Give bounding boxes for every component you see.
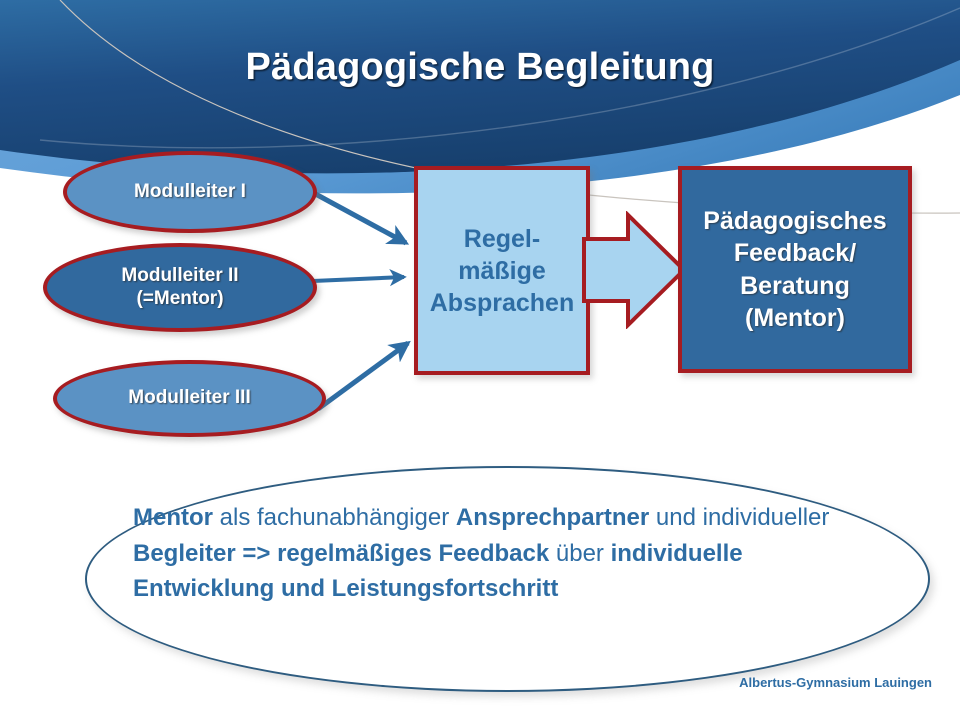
summary-seg-2: als fachunabhängiger — [213, 504, 456, 531]
box-middle-line-2: mäßige — [458, 257, 546, 285]
ellipse-modulleiter-1[interactable]: Modulleiter I — [63, 151, 317, 233]
summary-seg-5: Begleiter => regelmäßiges Feedback — [133, 540, 549, 567]
ellipse-modulleiter-2-line-1: Modulleiter II — [121, 265, 238, 286]
ellipse-modulleiter-3[interactable]: Modulleiter III — [53, 360, 326, 437]
slide-canvas: Pädagogische Begleitung Modulleiter I Mo… — [0, 0, 960, 720]
box-right-line-2: Feedback/ — [734, 239, 856, 267]
ellipse-modulleiter-3-label: Modulleiter III — [128, 387, 250, 409]
box-right-line-4: (Mentor) — [745, 304, 845, 332]
box-paedagogisches-feedback[interactable]: Pädagogisches Feedback/ Beratung (Mentor… — [678, 166, 912, 373]
box-regelmaessige-absprachen-label: Regel- mäßige Absprachen — [430, 223, 574, 319]
ellipse-modulleiter-2[interactable]: Modulleiter II (=Mentor) — [43, 243, 317, 332]
block-arrow-right — [580, 211, 690, 329]
arrow-from-modulleiter-1 — [310, 191, 406, 243]
box-middle-line-3: Absprachen — [430, 289, 574, 317]
ellipse-modulleiter-1-label: Modulleiter I — [134, 181, 246, 203]
ellipse-modulleiter-2-line-2: (=Mentor) — [136, 288, 223, 309]
summary-seg-1: Mentor — [133, 504, 213, 531]
box-paedagogisches-feedback-label: Pädagogisches Feedback/ Beratung (Mentor… — [703, 205, 886, 335]
summary-seg-3: Ansprechpartner — [456, 504, 649, 531]
box-middle-line-1: Regel- — [464, 225, 540, 253]
box-regelmaessige-absprachen[interactable]: Regel- mäßige Absprachen — [414, 166, 590, 375]
box-right-line-1: Pädagogisches — [703, 207, 886, 235]
page-title: Pädagogische Begleitung — [0, 46, 960, 89]
arrow-from-modulleiter-3 — [318, 343, 408, 409]
ellipse-modulleiter-2-label: Modulleiter II (=Mentor) — [121, 265, 238, 310]
summary-seg-4: und individueller — [649, 504, 829, 531]
summary-oval-text: Mentor als fachunabhängiger Ansprechpart… — [133, 500, 863, 607]
arrow-from-modulleiter-2 — [313, 277, 404, 281]
box-right-line-3: Beratung — [740, 272, 850, 300]
footer-school-name: Albertus-Gymnasium Lauingen — [739, 675, 932, 690]
summary-seg-6: über — [549, 540, 610, 567]
